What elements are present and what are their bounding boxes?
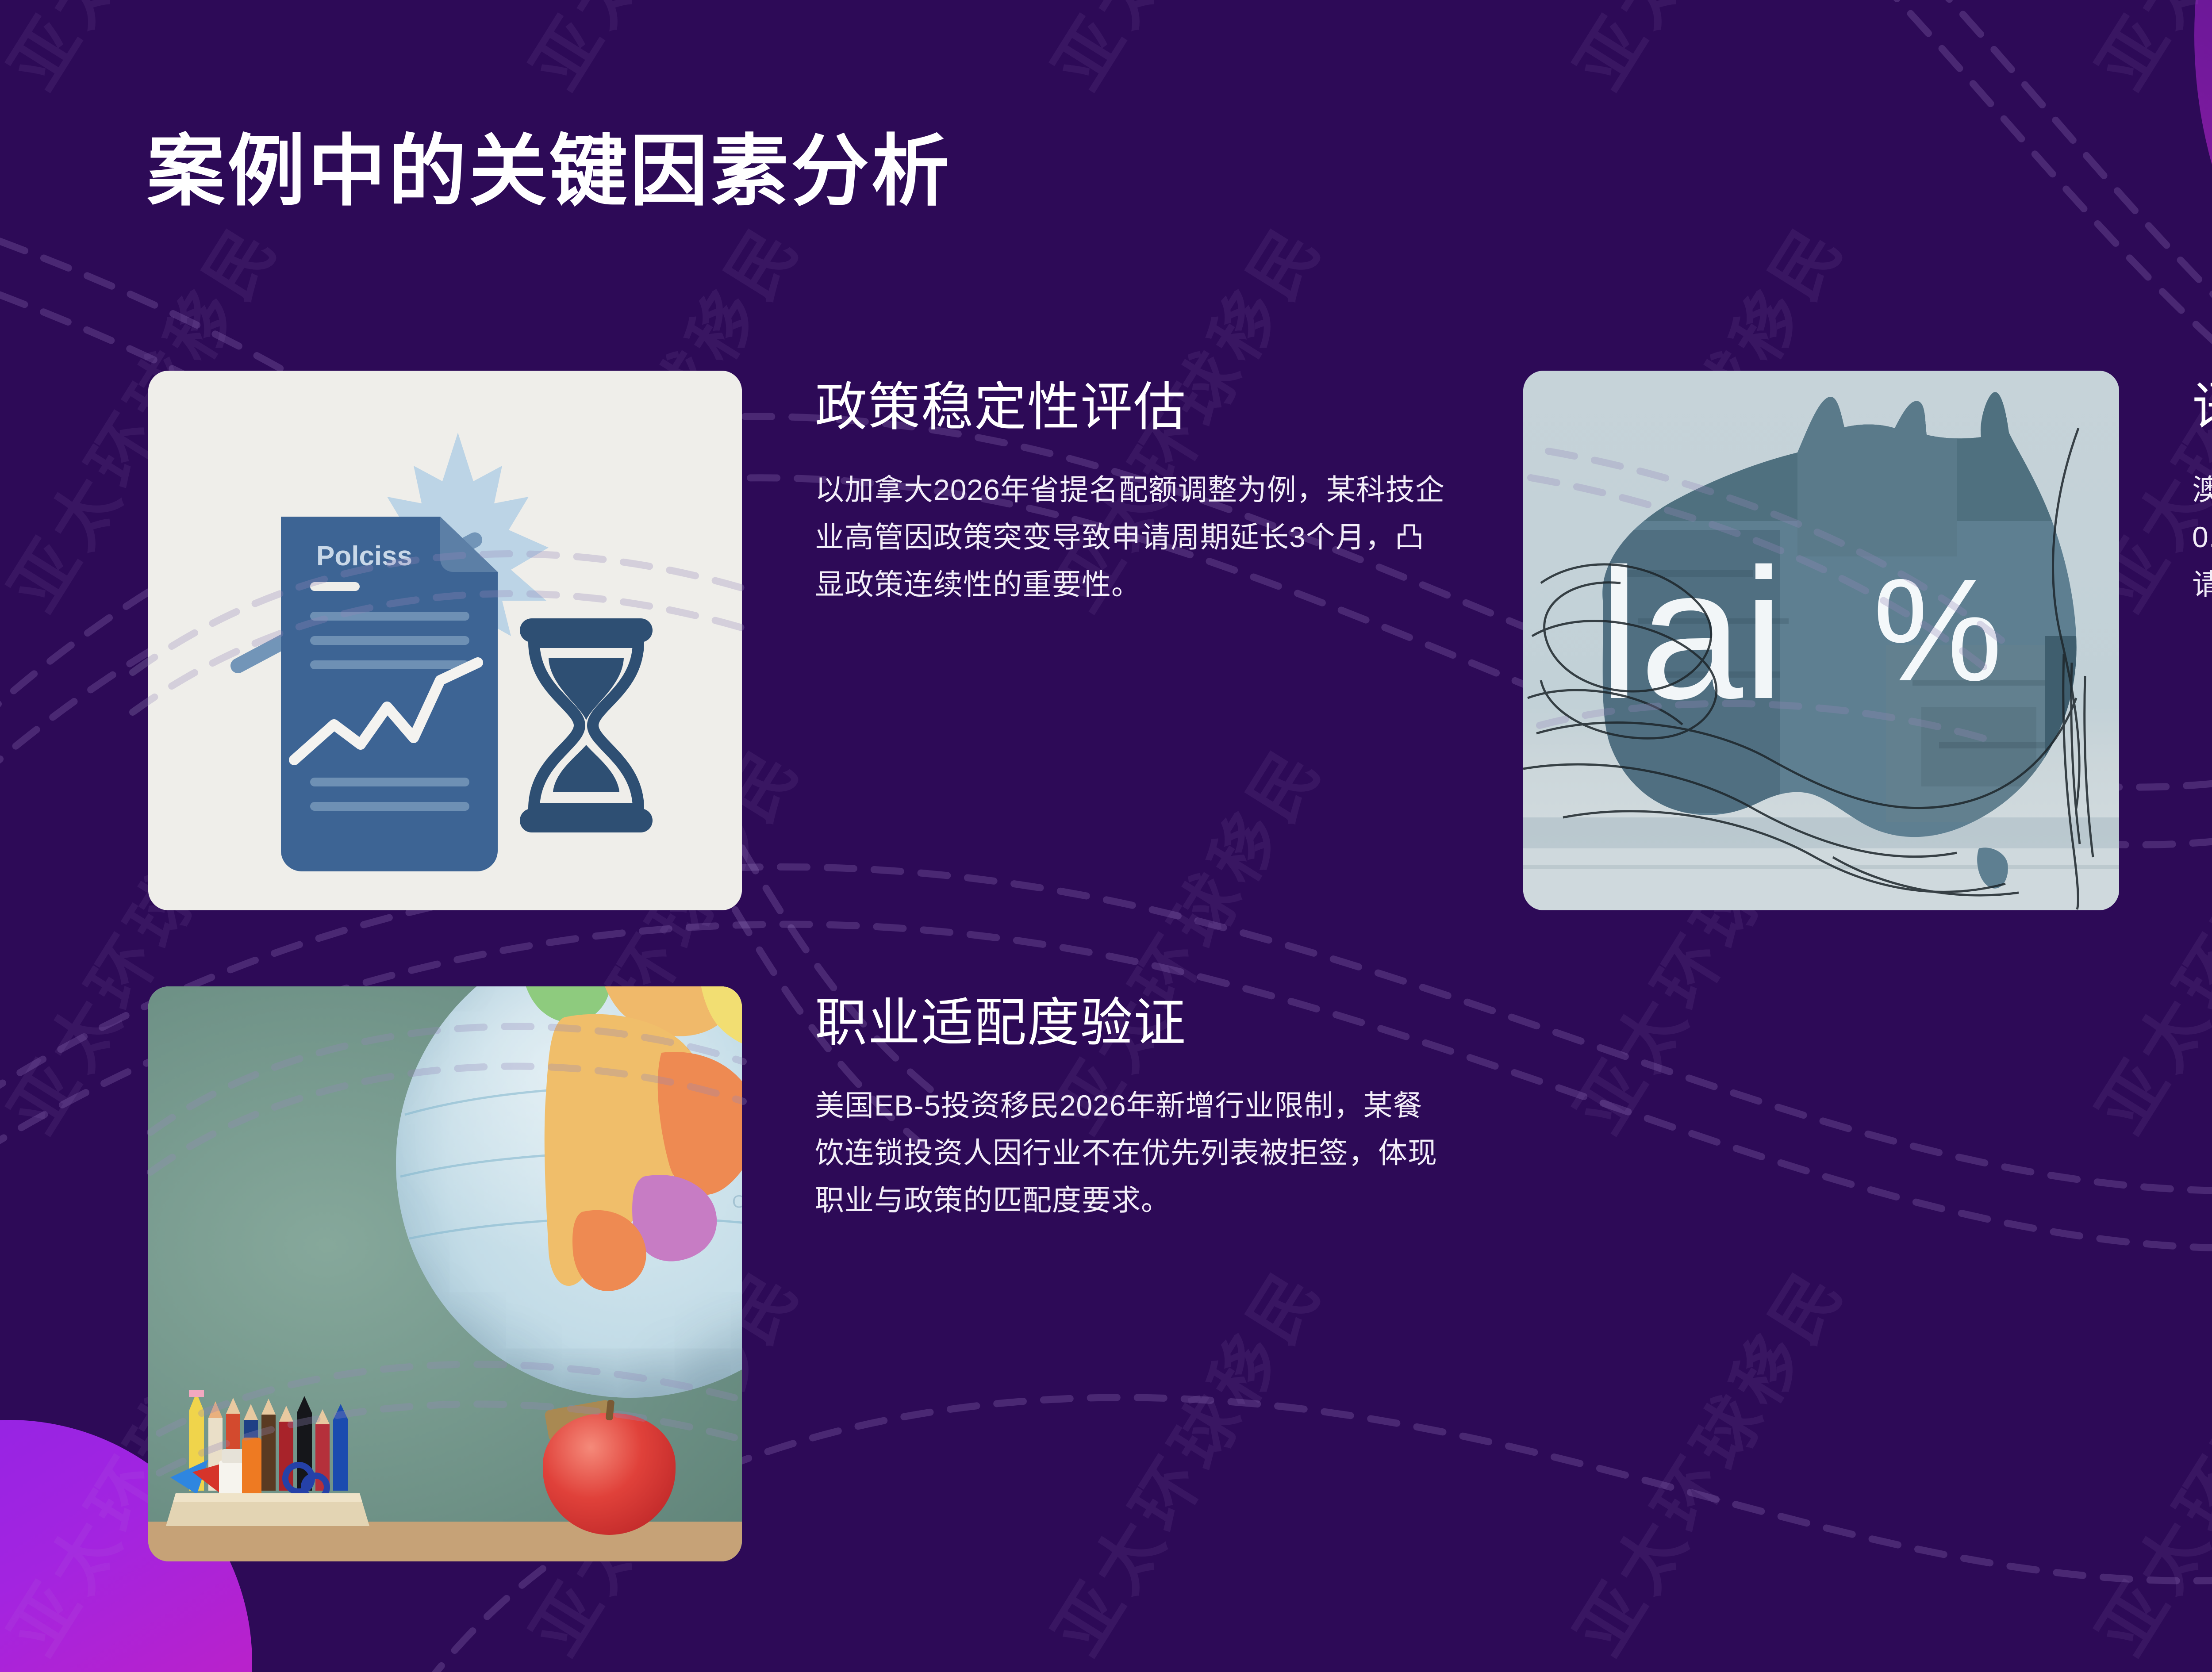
globe-school-supplies-photo: OC EA N (148, 986, 742, 1561)
hourglass-icon (520, 618, 653, 832)
card-copy: 政策稳定性评估 以加拿大2026年省提名配额调整为例，某科技企业高管因政策突变导… (815, 371, 1448, 608)
card-body: 澳大利亚技术移民2026年将雅思成绩要求提高0.5分，某护士申请人因口语单项差0… (2192, 466, 2212, 608)
factor-card-policy-stability: Polciss (148, 371, 1448, 910)
map-overlay-text: lai (1598, 530, 1784, 738)
card-body: 以加拿大2026年省提名配额调整为例，某科技企业高管因政策突变导致申请周期延长3… (815, 466, 1448, 608)
percent-symbol: % (1873, 548, 2002, 711)
svg-text:Polciss: Polciss (316, 541, 412, 571)
policy-doc-svg: Polciss (148, 371, 742, 910)
card-body: 美国EB-5投资移民2026年新增行业限制，某餐饮连锁投资人因行业不在优先列表被… (815, 1082, 1448, 1224)
desk-surface (148, 1522, 742, 1561)
card-heading: 政策稳定性评估 (815, 380, 1448, 435)
globe-icon: OC EA N (396, 986, 742, 1398)
page-title: 案例中的关键因素分析 (147, 133, 952, 211)
factor-card-occupation-match: OC EA N (148, 986, 1448, 1561)
africa-landmass (522, 986, 742, 1291)
svg-text:O: O (732, 1192, 742, 1212)
document-icon: Polciss (281, 517, 498, 871)
australia-map-svg: lai % (1523, 371, 2119, 910)
pencil-cup (166, 1367, 369, 1526)
australia-map-percent-illustration: lai % (1523, 371, 2119, 910)
factor-card-language-threshold: lai % 语言能力门槛 澳大利亚技 (1523, 371, 2212, 910)
card-heading: 职业适配度验证 (815, 996, 1448, 1051)
card-copy: 职业适配度验证 美国EB-5投资移民2026年新增行业限制，某餐饮连锁投资人因行… (815, 986, 1448, 1224)
card-copy: 语言能力门槛 澳大利亚技术移民2026年将雅思成绩要求提高0.5分，某护士申请人… (2192, 371, 2212, 608)
card-heading: 语言能力门槛 (2192, 380, 2212, 435)
policy-document-hourglass-illustration: Polciss (148, 371, 742, 910)
pencils-and-markers (170, 1390, 348, 1499)
